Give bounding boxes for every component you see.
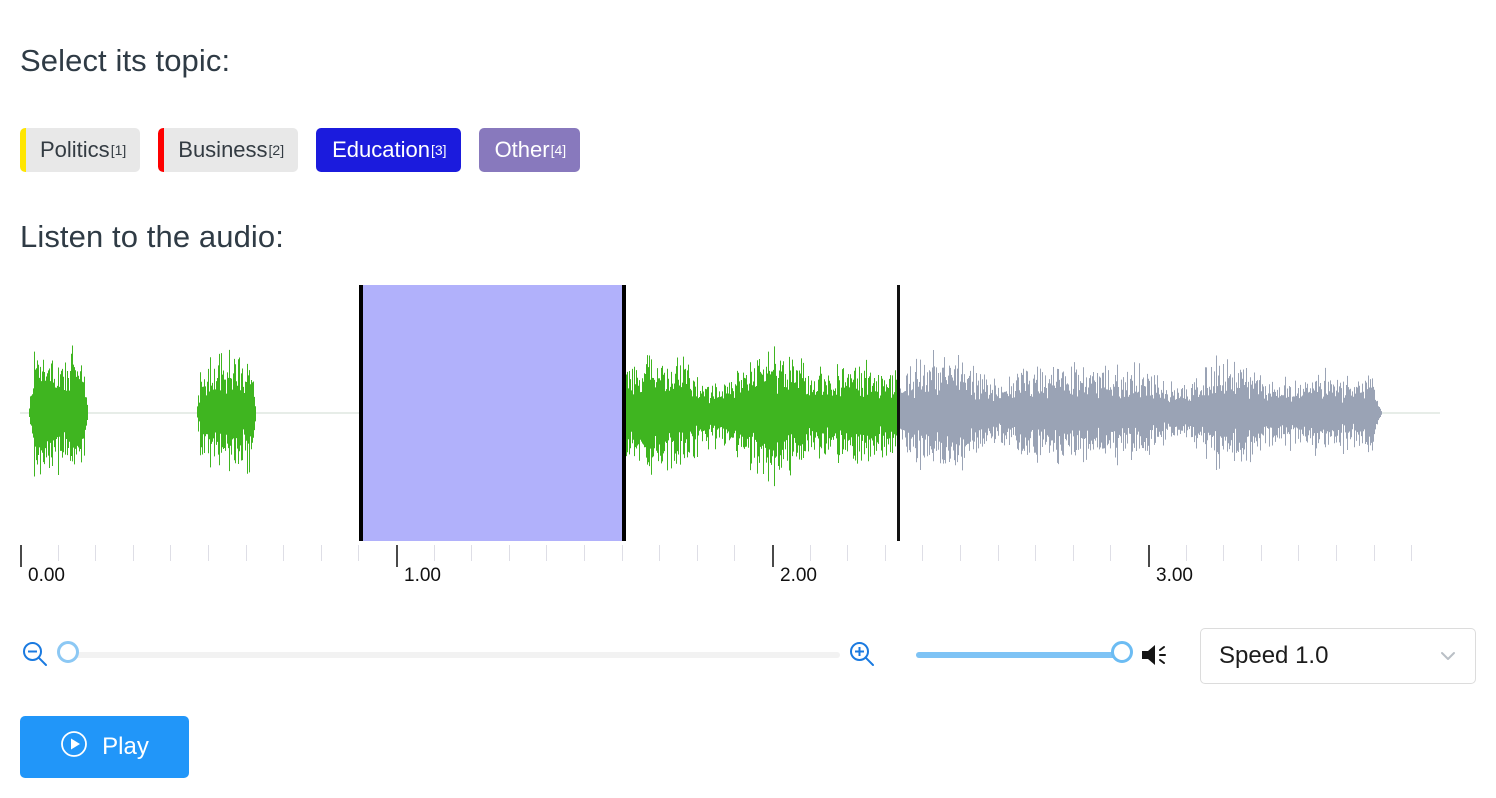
ruler-tick-minor	[358, 545, 359, 561]
topic-button-other[interactable]: Other[4]	[479, 128, 581, 172]
ruler-tick-minor	[170, 545, 171, 561]
magnifier-minus-icon[interactable]	[20, 639, 50, 674]
topic-button-other-label: Other	[495, 139, 550, 161]
timeline-ruler[interactable]: 0.001.002.003.00	[0, 545, 1496, 590]
waveform-graphic	[0, 283, 1496, 541]
speaker-icon[interactable]	[1139, 640, 1171, 675]
ruler-tick-minor	[960, 545, 961, 561]
ruler-tick-minor	[471, 545, 472, 561]
ruler-tick-minor	[885, 545, 886, 561]
ruler-tick-minor	[1223, 545, 1224, 561]
ruler-tick-major	[772, 545, 774, 567]
ruler-label: 3.00	[1156, 565, 1193, 587]
topic-button-business-label: Business	[178, 139, 267, 161]
topic-button-politics[interactable]: Politics[1]	[20, 128, 140, 172]
topic-button-politics-label: Politics	[40, 139, 110, 161]
page-title-audio: Listen to the audio:	[20, 219, 284, 255]
ruler-tick-minor	[1374, 545, 1375, 561]
play-button[interactable]: Play	[20, 716, 189, 778]
player-controls: Speed 1.0	[20, 625, 1480, 687]
ruler-tick-minor	[283, 545, 284, 561]
ruler-tick-minor	[133, 545, 134, 561]
ruler-tick-minor	[1336, 545, 1337, 561]
waveform-selection-region[interactable]	[359, 285, 626, 541]
magnifier-plus-icon[interactable]	[847, 639, 877, 674]
speed-select-value: Speed 1.0	[1219, 642, 1439, 670]
topic-button-education-label: Education	[332, 139, 430, 161]
ruler-tick-minor	[622, 545, 623, 561]
ruler-tick-major	[20, 545, 22, 567]
politics-color-swatch	[20, 128, 26, 172]
ruler-tick-minor	[998, 545, 999, 561]
ruler-tick-minor	[1035, 545, 1036, 561]
business-color-swatch	[158, 128, 164, 172]
ruler-tick-minor	[1261, 545, 1262, 561]
ruler-tick-minor	[1411, 545, 1412, 561]
ruler-tick-minor	[95, 545, 96, 561]
ruler-label: 2.00	[780, 565, 817, 587]
ruler-tick-minor	[1186, 545, 1187, 561]
ruler-tick-minor	[246, 545, 247, 561]
waveform-canvas[interactable]	[0, 283, 1496, 541]
ruler-tick-minor	[734, 545, 735, 561]
play-circle-icon	[60, 730, 88, 765]
play-button-label: Play	[102, 733, 149, 761]
ruler-tick-minor	[321, 545, 322, 561]
volume-slider-track[interactable]	[916, 652, 1122, 658]
waveform-panel[interactable]: 0.001.002.003.00	[0, 283, 1496, 588]
speed-select[interactable]: Speed 1.0	[1200, 628, 1476, 684]
ruler-tick-minor	[1298, 545, 1299, 561]
page-title-topic: Select its topic:	[20, 43, 230, 79]
ruler-tick-minor	[659, 545, 660, 561]
audio-topic-annotation-page: Select its topic: Politics[1] Business[2…	[0, 0, 1496, 798]
volume-slider-fill	[916, 652, 1122, 658]
ruler-tick-minor	[697, 545, 698, 561]
ruler-tick-minor	[434, 545, 435, 561]
ruler-tick-minor	[922, 545, 923, 561]
topic-button-group: Politics[1] Business[2] Education[3] Oth…	[20, 128, 580, 172]
ruler-tick-minor	[810, 545, 811, 561]
ruler-tick-major	[1148, 545, 1150, 567]
zoom-slider-track[interactable]	[68, 652, 840, 658]
ruler-tick-minor	[58, 545, 59, 561]
waveform-playhead[interactable]	[897, 285, 900, 541]
zoom-slider-handle[interactable]	[57, 641, 79, 663]
ruler-tick-minor	[1110, 545, 1111, 561]
ruler-tick-minor	[208, 545, 209, 561]
ruler-tick-minor	[584, 545, 585, 561]
ruler-label: 0.00	[28, 565, 65, 587]
topic-button-education[interactable]: Education[3]	[316, 128, 460, 172]
ruler-tick-minor	[546, 545, 547, 561]
ruler-label: 1.00	[404, 565, 441, 587]
ruler-tick-minor	[847, 545, 848, 561]
ruler-tick-minor	[509, 545, 510, 561]
topic-button-business[interactable]: Business[2]	[158, 128, 298, 172]
ruler-tick-minor	[1073, 545, 1074, 561]
chevron-down-icon	[1439, 647, 1457, 665]
ruler-tick-major	[396, 545, 398, 567]
volume-slider-handle[interactable]	[1111, 641, 1133, 663]
